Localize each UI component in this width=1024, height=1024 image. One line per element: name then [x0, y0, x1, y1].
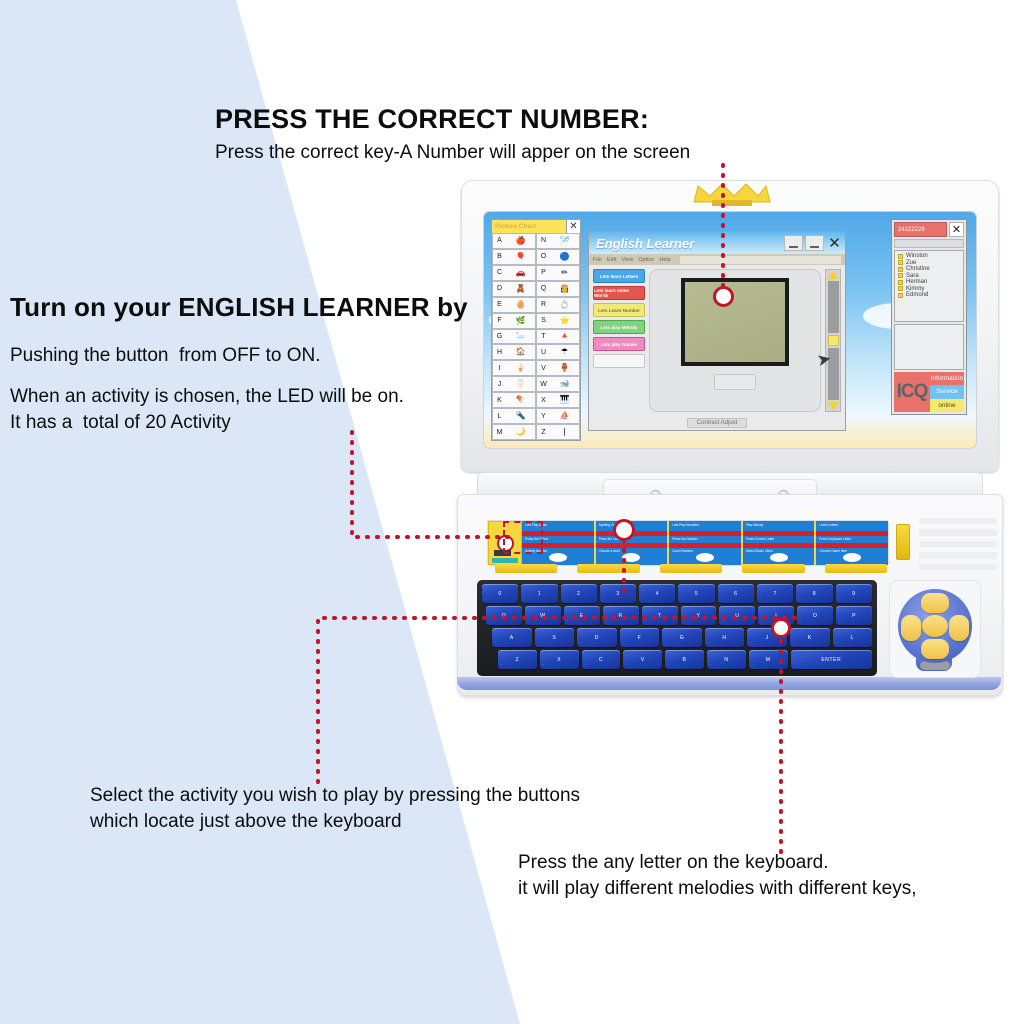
activity-panel-oval-button[interactable] — [843, 553, 861, 562]
picture-chart-letter: R — [537, 301, 550, 308]
picture-chart-letter: F — [493, 317, 506, 324]
key-0[interactable]: 0· — [482, 584, 518, 603]
picture-chart-letter: Z — [537, 429, 550, 436]
key-V[interactable]: V· — [623, 650, 662, 669]
picture-chart-letter: W — [537, 381, 550, 388]
key-sublabel: · — [524, 597, 526, 601]
key-R[interactable]: R· — [603, 606, 639, 625]
key-1[interactable]: 1· — [521, 584, 557, 603]
picture-chart-cell: X🎹 — [536, 392, 580, 408]
activity-key-5[interactable] — [825, 564, 887, 573]
scroll-thumb[interactable] — [828, 281, 839, 333]
scroll-knob[interactable] — [828, 335, 839, 346]
picture-chart-cell: I🍦 — [492, 360, 536, 376]
house-icon: 🏠 — [506, 348, 535, 356]
toy-laptop: Picture Chart ✕ A🍎B🎈C🚗D🧸E🥚F🌿G🦢H🏠I🍦J🥛K🪁L🔦… — [449, 172, 1009, 712]
picture-chart-cell: J🥛 — [492, 376, 536, 392]
key-3[interactable]: 3· — [600, 584, 636, 603]
key-sublabel: · — [708, 641, 710, 645]
key-9[interactable]: 9· — [836, 584, 872, 603]
activity-panel-label-1: Play Melody — [746, 523, 812, 527]
dpad-left-button[interactable] — [901, 615, 921, 641]
picture-chart-close-icon[interactable]: ✕ — [566, 220, 580, 233]
balloon-icon: 🎈 — [506, 253, 535, 261]
picture-chart-cell: M🌙 — [492, 424, 536, 440]
key-G[interactable]: G· — [662, 628, 702, 647]
activity-panel-band-2 — [669, 543, 741, 548]
picture-chart-cell: E🥚 — [492, 297, 536, 313]
picture-chart-letter: L — [493, 413, 506, 420]
icq-contact-name: Zue — [906, 260, 916, 266]
icq-footer: ICQ Information Service online — [894, 372, 964, 412]
picture-chart-letter: X — [537, 397, 550, 404]
annotation-left-line3: It has a total of 20 Activity — [10, 412, 231, 434]
key-enter[interactable]: ENTER — [791, 650, 872, 669]
juice-icon: 🥛 — [506, 380, 535, 388]
doll-icon: 🧸 — [506, 285, 535, 293]
english-learner-titlebar: English Learner ✕ — [589, 232, 845, 254]
icq-contact-name: Sara — [906, 273, 919, 279]
key-sublabel: · — [623, 641, 625, 645]
icq-toolbar — [894, 239, 964, 248]
activity-panel-band-1 — [816, 531, 888, 536]
activity-panel-5[interactable]: Learn LettersPress Keyboard LetterChoose… — [816, 521, 888, 565]
activity-panel-label-2: Press Keyboard Letter — [819, 537, 885, 541]
picture-chart-cell: K🪁 — [492, 392, 536, 408]
flower-icon: 🌿 — [506, 317, 535, 325]
key-7[interactable]: 7· — [757, 584, 793, 603]
activity-panel-band-2 — [816, 543, 888, 548]
picture-chart-cell: Q👸 — [536, 281, 580, 297]
key-L[interactable]: L· — [833, 628, 873, 647]
icq-contact-item[interactable]: Herman — [898, 279, 960, 285]
key-U[interactable]: U· — [719, 606, 755, 625]
dpad-right-button[interactable] — [949, 615, 969, 641]
icq-link-service[interactable]: Service — [930, 385, 964, 398]
key-O[interactable]: O· — [797, 606, 833, 625]
laptop-lid: Picture Chart ✕ A🍎B🎈C🚗D🧸E🥚F🌿G🦢H🏠I🍦J🥛K🪁L🔦… — [461, 180, 999, 472]
annotation-bottomleft-line2: which locate just above the keyboard — [90, 811, 402, 833]
key-D[interactable]: D· — [577, 628, 617, 647]
key-K[interactable]: K· — [790, 628, 830, 647]
key-C[interactable]: C· — [582, 650, 621, 669]
picture-chart-window[interactable]: Picture Chart ✕ A🍎B🎈C🚗D🧸E🥚F🌿G🦢H🏠I🍦J🥛K🪁L🔦… — [491, 219, 581, 441]
activity-key-4[interactable] — [742, 564, 804, 573]
key-sublabel: · — [642, 597, 644, 601]
queen-icon: 👸 — [550, 285, 579, 293]
key-T[interactable]: T· — [642, 606, 678, 625]
power-switch-base — [492, 558, 518, 563]
key-sublabel: · — [793, 641, 795, 645]
picture-chart-cell: B🎈 — [492, 249, 536, 265]
picture-chart-letter: Q — [537, 285, 550, 292]
picture-chart-letter: D — [493, 285, 506, 292]
picture-chart-right-column: N🪡O🔵P✏Q👸R💍S⭐T🔺U☂V🏺W🐋X🎹Y⛵Z❘ — [536, 233, 580, 440]
picture-chart-cell: T🔺 — [536, 329, 580, 345]
activity-panel-oval-button[interactable] — [549, 553, 567, 562]
xylophone-icon: 🎹 — [550, 396, 579, 404]
activity-key-1[interactable] — [495, 564, 557, 573]
lid-latch-icon[interactable] — [688, 180, 776, 206]
kite-icon: 🪁 — [506, 396, 535, 404]
close-icon[interactable]: ✕ — [826, 235, 843, 252]
key-sublabel: · — [752, 663, 754, 667]
icq-contact-item[interactable]: Edmond — [898, 292, 960, 298]
annotation-bottomright-line1: Press the any letter on the keyboard. — [518, 852, 829, 874]
picture-chart-cell: C🚗 — [492, 265, 536, 281]
picture-chart-cell: L🔦 — [492, 408, 536, 424]
lcd-button[interactable] — [714, 374, 756, 390]
contrast-adjust-button[interactable]: Contrast Adjust — [687, 418, 748, 428]
picture-chart-cell: D🧸 — [492, 281, 536, 297]
picture-chart-cell: N🪡 — [536, 233, 580, 249]
key-sublabel: · — [489, 619, 491, 623]
icq-status-icon — [898, 260, 903, 265]
scroll-down-icon[interactable] — [827, 402, 839, 410]
yacht-icon: ⛵ — [550, 412, 579, 420]
key-W[interactable]: W· — [525, 606, 561, 625]
activity-button-list: Lets learn LettersLets learn some WordsL… — [593, 269, 645, 412]
picture-chart-letter: T — [537, 333, 550, 340]
screenshot-canvas: Picture Chart ✕ A🍎B🎈C🚗D🧸E🥚F🌿G🦢H🏠I🍦J🥛K🪁L🔦… — [0, 0, 1024, 1024]
key-5[interactable]: 5· — [678, 584, 714, 603]
icq-panel[interactable]: 24222226 ✕ WinstonZueChristineSaraHerman… — [891, 219, 967, 415]
activity-panel-band-2 — [596, 543, 668, 548]
key-sublabel: · — [580, 641, 582, 645]
activity-panel-band-1 — [669, 531, 741, 536]
tree-icon: 🔺 — [550, 332, 579, 340]
picture-chart-titlebar: Picture Chart ✕ — [492, 220, 580, 233]
speaker-vents — [919, 518, 997, 570]
icq-titlebar: 24222226 ✕ — [894, 222, 964, 237]
annotation-top-body: Press the correct key-A Number will appe… — [215, 142, 690, 164]
icq-contact-item[interactable]: Kimmy — [898, 286, 960, 292]
picture-chart-letter: N — [537, 237, 550, 244]
minimize-button[interactable] — [805, 235, 824, 251]
zip-icon: ❘ — [550, 428, 579, 436]
picture-chart-cell: O🔵 — [536, 249, 580, 265]
activity-panel-band-1 — [743, 531, 815, 536]
dpad-center-button[interactable] — [922, 615, 948, 637]
key-A[interactable]: A· — [492, 628, 532, 647]
power-switch-highlight — [503, 521, 543, 554]
icq-status-icon — [898, 280, 903, 285]
el-activity-button-4[interactable]: Lets play Melody — [593, 320, 645, 334]
picture-chart-cell: U☂ — [536, 344, 580, 360]
annotation-left-heading: Turn on your ENGLISH LEARNER by — [10, 292, 468, 323]
key-Q[interactable]: Q· — [486, 606, 522, 625]
laptop-base-edge — [457, 677, 1001, 690]
dpad-down-button[interactable] — [921, 639, 949, 659]
whale-icon: 🐋 — [550, 380, 579, 388]
picture-chart-letter: P — [537, 269, 550, 276]
picture-chart-cell: S⭐ — [536, 313, 580, 329]
keyboard[interactable]: 0·1·2·3·4·5·6·7·8·9· Q·W·E·R·T·Y·U·I·O·P… — [477, 580, 877, 676]
activity-panel-label-1: Learn Letters — [819, 523, 885, 527]
key-sublabel: · — [681, 597, 683, 601]
lcd-screen — [681, 278, 789, 366]
key-2[interactable]: 2· — [561, 584, 597, 603]
icq-number: 24222226 — [894, 222, 947, 237]
activity-panel-oval-button[interactable] — [770, 553, 788, 562]
key-sublabel: · — [722, 619, 724, 623]
picture-chart-letter: S — [537, 317, 550, 324]
key-sublabel: · — [606, 619, 608, 623]
key-S[interactable]: S· — [535, 628, 575, 647]
icq-contact-item[interactable]: Sara — [898, 273, 960, 279]
picture-chart-letter: G — [493, 333, 506, 340]
activity-panel-label-1: Lets Play Numbers — [672, 523, 738, 527]
menu-item-option[interactable]: Option — [638, 257, 654, 263]
ring-icon: 💍 — [550, 301, 579, 309]
picture-chart-cell: R💍 — [536, 297, 580, 313]
picture-chart-cell: V🏺 — [536, 360, 580, 376]
picture-chart-letter: V — [537, 365, 550, 372]
egg-icon: 🥚 — [506, 301, 535, 309]
icq-status-icon — [898, 254, 903, 259]
hotspot-keyboard-key[interactable] — [771, 618, 791, 638]
picture-chart-letter: O — [537, 253, 550, 260]
picture-chart-letter: E — [493, 301, 506, 308]
key-sublabel: · — [839, 597, 841, 601]
el-activity-button-2[interactable]: Lets learn some Words — [593, 286, 645, 300]
key-sublabel: · — [485, 597, 487, 601]
picture-chart-cell: P✏ — [536, 265, 580, 281]
picture-chart-letter: C — [493, 269, 506, 276]
hotspot-lcd[interactable] — [713, 286, 734, 307]
needle-icon: 🪡 — [550, 237, 579, 245]
key-sublabel: · — [626, 663, 628, 667]
keyboard-number-row[interactable]: 0·1·2·3·4·5·6·7·8·9· — [482, 584, 872, 603]
picture-chart-letter: M — [493, 429, 506, 436]
menu-item-view[interactable]: View — [621, 257, 633, 263]
menu-item-file[interactable]: File — [593, 257, 602, 263]
star-icon: ⭐ — [550, 317, 579, 325]
pencil-icon: ✏ — [550, 269, 579, 277]
key-sublabel: · — [836, 641, 838, 645]
picture-chart-cell: G🦢 — [492, 329, 536, 345]
key-sublabel: · — [564, 597, 566, 601]
icq-status-icon — [898, 293, 903, 298]
activity-panel-4[interactable]: Play MelodyPress Correct LetterSelect Mu… — [743, 521, 817, 565]
dpad-well — [889, 580, 981, 678]
english-learner-title: English Learner — [596, 236, 784, 251]
dpad-up-button[interactable] — [921, 593, 949, 613]
icq-contact-name: Winston — [906, 253, 928, 259]
activity-panel-oval-button[interactable] — [696, 553, 714, 562]
lamp-icon: 🔦 — [506, 412, 535, 420]
key-sublabel: · — [760, 597, 762, 601]
key-sublabel: · — [668, 663, 670, 667]
picture-chart-letter: H — [493, 349, 506, 356]
scroll-up-icon[interactable] — [827, 271, 839, 279]
key-4[interactable]: 4· — [639, 584, 675, 603]
picture-chart-letter: I — [493, 365, 506, 372]
key-sublabel: · — [567, 619, 569, 623]
picture-chart-letter: K — [493, 397, 506, 404]
menu-item-help[interactable]: Help — [659, 257, 670, 263]
key-sublabel: · — [528, 619, 530, 623]
icq-contact-item[interactable]: Winston — [898, 253, 960, 259]
annotation-top-heading: PRESS THE CORRECT NUMBER: — [215, 104, 649, 135]
icq-contact-item[interactable]: Zue — [898, 260, 960, 266]
picture-chart-cell: F🌿 — [492, 313, 536, 329]
activity-button-strip[interactable]: Lets Play AgainPress the SelectActivity … — [487, 520, 889, 566]
key-sublabel: · — [665, 641, 667, 645]
activity-panel-3[interactable]: Lets Play NumbersPress the NumberCount N… — [669, 521, 743, 565]
english-learner-footer: Contrast Adjust — [589, 416, 845, 430]
key-E[interactable]: E· — [564, 606, 600, 625]
key-sublabel: · — [585, 663, 587, 667]
key-B[interactable]: B· — [665, 650, 704, 669]
menu-bar-filler — [680, 256, 841, 264]
annotation-left-line2: When an activity is chosen, the LED will… — [10, 386, 404, 408]
icq-message-area — [894, 324, 964, 370]
el-activity-button-3[interactable]: Lets Learn Number — [593, 303, 645, 317]
menu-bar[interactable]: File Edit View Option Help — [589, 254, 845, 265]
key-sublabel: · — [538, 641, 540, 645]
picture-chart-cell: A🍎 — [492, 233, 536, 249]
key-sublabel: · — [710, 663, 712, 667]
keyboard-z-row[interactable]: Z·X·C·V·B·N·M·ENTER — [482, 650, 872, 669]
icq-link-online[interactable]: online — [930, 399, 964, 412]
icq-contact-name: Edmond — [906, 292, 928, 298]
picture-chart-cell: W🐋 — [536, 376, 580, 392]
vertical-scrollbar[interactable] — [825, 269, 841, 412]
key-sublabel: · — [684, 619, 686, 623]
icecream-icon: 🍦 — [506, 364, 535, 372]
key-N[interactable]: N· — [707, 650, 746, 669]
picture-chart-letter: Y — [537, 413, 550, 420]
key-H[interactable]: H· — [705, 628, 745, 647]
el-activity-button-1[interactable]: Lets learn Letters — [593, 269, 645, 283]
icq-links: Information Service online — [930, 372, 964, 412]
umbrella-icon: ☂ — [550, 348, 579, 356]
icq-contact-item[interactable]: Christine — [898, 266, 960, 272]
key-F[interactable]: F· — [620, 628, 660, 647]
annotation-bottomright-line2: it will play different melodies with dif… — [518, 878, 916, 900]
menu-item-edit[interactable]: Edit — [607, 257, 616, 263]
key-sublabel: · — [761, 619, 763, 623]
icq-contact-name: Herman — [906, 279, 927, 285]
picture-chart-cell: H🏠 — [492, 344, 536, 360]
activity-panel-oval-button[interactable] — [622, 553, 640, 562]
window-controls: ✕ — [784, 235, 845, 252]
key-Z[interactable]: Z· — [498, 650, 537, 669]
laptop-display: Picture Chart ✕ A🍎B🎈C🚗D🧸E🥚F🌿G🦢H🏠I🍦J🥛K🪁L🔦… — [483, 211, 977, 449]
key-sublabel: · — [543, 663, 545, 667]
picture-chart-left-column: A🍎B🎈C🚗D🧸E🥚F🌿G🦢H🏠I🍦J🥛K🪁L🔦M🌙 — [492, 233, 536, 440]
key-sublabel: · — [799, 597, 801, 601]
keyboard-q-row[interactable]: Q·W·E·R·T·Y·U·I·O·P· — [482, 606, 872, 625]
picture-chart-grid: A🍎B🎈C🚗D🧸E🥚F🌿G🦢H🏠I🍦J🥛K🪁L🔦M🌙 N🪡O🔵P✏Q👸R💍S⭐T… — [492, 233, 580, 440]
icq-contact-name: Christine — [906, 266, 930, 272]
orange-icon: 🔵 — [550, 253, 579, 261]
activity-panels: Lets Play AgainPress the SelectActivity … — [522, 521, 888, 565]
key-8[interactable]: 8· — [796, 584, 832, 603]
activity-panel-band-2 — [743, 543, 815, 548]
keyboard-a-row[interactable]: A·S·D·F·G·H·J·K·L· — [482, 628, 872, 647]
car-icon: 🚗 — [506, 269, 535, 277]
el-activity-button-5[interactable]: Lets play Games — [593, 337, 645, 351]
side-yellow-key[interactable] — [896, 524, 910, 560]
lcd-panel — [649, 269, 821, 412]
icq-contact-name: Kimmy — [906, 286, 924, 292]
icq-status-icon — [898, 286, 903, 291]
picture-chart-letter: A — [493, 237, 506, 244]
key-sublabel: · — [501, 663, 503, 667]
picture-chart-letter: U — [537, 349, 550, 356]
key-sublabel: · — [645, 619, 647, 623]
key-sublabel: · — [721, 597, 723, 601]
icq-status-icon — [898, 273, 903, 278]
annotation-left-line1: Pushing the button from OFF to ON. — [10, 345, 320, 367]
hotspot-activity-button[interactable] — [613, 519, 635, 541]
key-sublabel: · — [839, 619, 841, 623]
el-activity-button-6[interactable] — [593, 354, 645, 368]
key-sublabel: · — [603, 597, 605, 601]
restore-button[interactable] — [784, 235, 803, 251]
key-Y[interactable]: Y· — [681, 606, 717, 625]
icq-contact-list[interactable]: WinstonZueChristineSaraHermanKimmyEdmond — [894, 250, 964, 322]
picture-chart-letter: B — [493, 253, 506, 260]
vase-icon: 🏺 — [550, 364, 579, 372]
activity-panel-label-2: Press Correct Letter — [746, 537, 812, 541]
key-sublabel: · — [800, 619, 802, 623]
icq-link-information[interactable]: Information — [930, 372, 964, 385]
activity-yellow-keys[interactable] — [495, 564, 887, 573]
icq-logo: ICQ — [894, 372, 930, 412]
activity-key-2[interactable] — [577, 564, 639, 573]
icq-close-icon[interactable]: ✕ — [949, 222, 964, 237]
picture-chart-cell: Z❘ — [536, 424, 580, 440]
activity-panel-label-2: Press the Number — [672, 537, 738, 541]
goose-icon: 🦢 — [506, 332, 535, 340]
key-sublabel: · — [495, 641, 497, 645]
key-X[interactable]: X· — [540, 650, 579, 669]
picture-chart-cell: Y⛵ — [536, 408, 580, 424]
apple-icon: 🍎 — [506, 237, 535, 245]
moon-icon: 🌙 — [506, 428, 535, 436]
activity-key-3[interactable] — [660, 564, 722, 573]
key-6[interactable]: 6· — [718, 584, 754, 603]
annotation-bottomleft-line1: Select the activity you wish to play by … — [90, 785, 580, 807]
dpad-base — [898, 589, 972, 663]
picture-chart-title: Picture Chart — [492, 220, 566, 233]
key-P[interactable]: P· — [836, 606, 872, 625]
key-sublabel: · — [750, 641, 752, 645]
key-M[interactable]: M· — [749, 650, 788, 669]
icq-status-icon — [898, 267, 903, 272]
english-learner-window[interactable]: English Learner ✕ File Edit View Option … — [588, 231, 846, 431]
picture-chart-letter: J — [493, 381, 506, 388]
